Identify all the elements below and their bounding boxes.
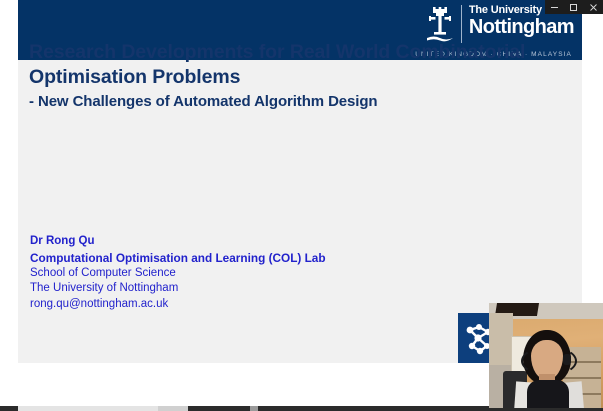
author-name: Dr Rong Qu bbox=[30, 234, 430, 250]
author-lab: Computational Optimisation and Learning … bbox=[30, 250, 430, 266]
taskbar-segment-c[interactable] bbox=[250, 406, 258, 411]
author-email: rong.qu@nottingham.ac.uk bbox=[30, 297, 430, 313]
restore-button[interactable] bbox=[565, 0, 583, 14]
taskbar-segment-b[interactable] bbox=[158, 406, 188, 411]
taskbar-segment-a[interactable] bbox=[18, 406, 158, 411]
university-crest-icon bbox=[425, 5, 455, 45]
video-presenter bbox=[517, 330, 579, 408]
window-controls bbox=[545, 0, 603, 14]
slide-author-block: Dr Rong Qu Computational Optimisation an… bbox=[30, 234, 430, 313]
slide-title-main: Research Developments for Real World Com… bbox=[29, 40, 569, 90]
headset-earcup bbox=[563, 354, 571, 365]
author-university: The University of Nottingham bbox=[30, 281, 430, 297]
minimize-icon bbox=[551, 7, 558, 8]
university-name-line2: Nottingham bbox=[469, 17, 574, 37]
minimize-button[interactable] bbox=[546, 0, 564, 14]
restore-icon bbox=[570, 4, 577, 11]
author-school: School of Computer Science bbox=[30, 266, 430, 282]
presenter-video-feed[interactable] bbox=[489, 303, 603, 408]
close-icon bbox=[590, 4, 597, 11]
slide-title-block: Research Developments for Real World Com… bbox=[29, 40, 569, 111]
close-button[interactable] bbox=[584, 0, 602, 14]
logo-divider bbox=[461, 5, 462, 43]
presenter-top bbox=[527, 380, 569, 408]
slide-title-subtitle: - New Challenges of Automated Algorithm … bbox=[29, 92, 569, 112]
